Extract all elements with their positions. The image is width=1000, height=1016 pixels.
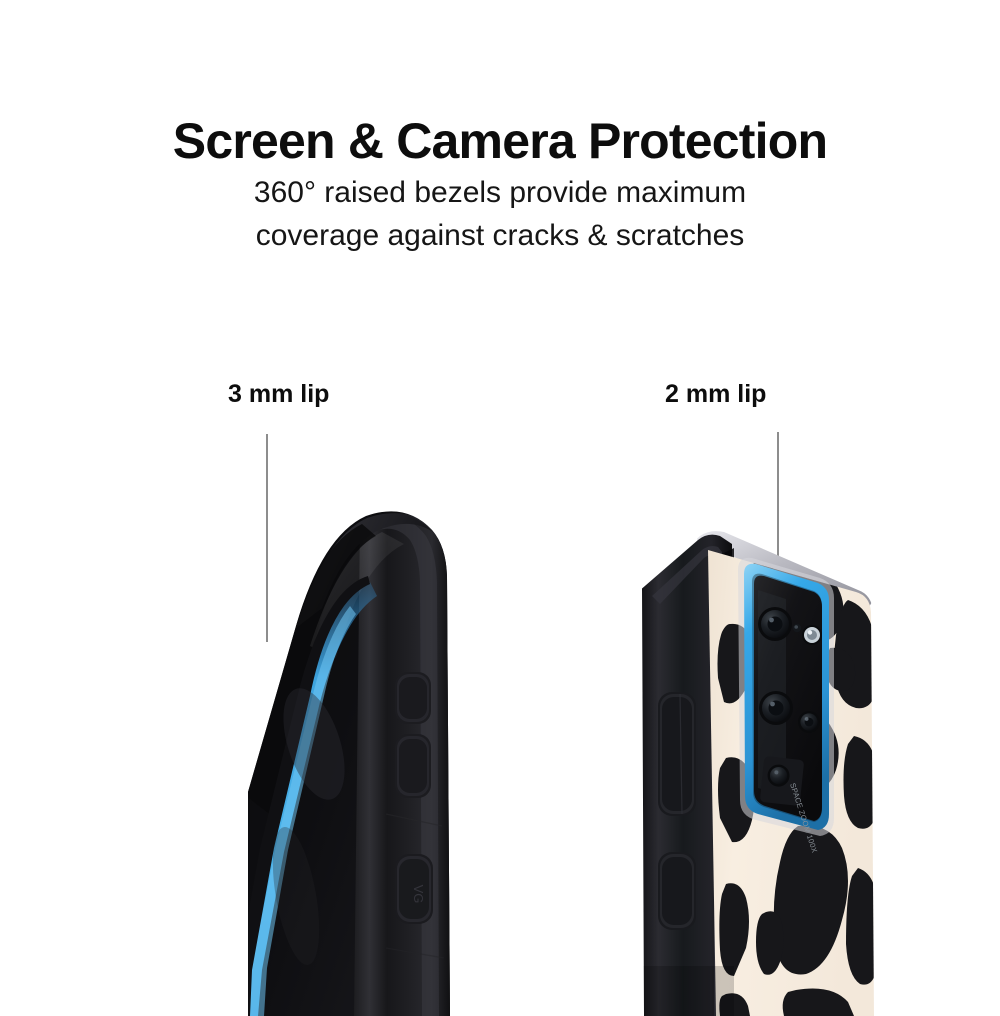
right-phone-body: SPACE ZOOM 100X	[638, 529, 877, 1016]
product-right-phone-cow-print-case: SPACE ZOOM 100X	[634, 496, 880, 1016]
left-phone-volume-down-button[interactable]	[395, 734, 431, 798]
right-phone-volume-rocker[interactable]	[658, 692, 696, 816]
left-phone-power-button[interactable]: VG	[395, 854, 433, 924]
callout-label-screen-lip: 3 mm lip	[228, 380, 329, 409]
left-phone-body: VG	[236, 511, 451, 1016]
callout-label-camera-lip: 2 mm lip	[665, 380, 766, 409]
cow-spot-8	[846, 868, 877, 985]
product-left-phone-black-case: VG	[236, 496, 468, 1016]
cow-spot-5	[844, 736, 877, 829]
left-phone-volume-up-button[interactable]	[395, 672, 431, 724]
camera-lens-1	[758, 607, 792, 641]
camera-flash-sensor	[793, 624, 801, 632]
subtitle-line-2: coverage against cracks & scratches	[0, 215, 1000, 258]
page-title: Screen & Camera Protection	[0, 114, 1000, 168]
camera-lens-2	[802, 625, 822, 645]
right-phone-power-button[interactable]	[658, 852, 696, 930]
page-subtitle: 360° raised bezels provide maximum cover…	[0, 172, 1000, 257]
camera-lens-3	[759, 691, 793, 725]
infographic-canvas: Screen & Camera Protection 360° raised b…	[0, 0, 1000, 1000]
subtitle-line-1: 360° raised bezels provide maximum	[254, 176, 746, 209]
left-phone-button-emboss-text: VG	[411, 885, 426, 904]
camera-lens-4	[798, 711, 820, 733]
